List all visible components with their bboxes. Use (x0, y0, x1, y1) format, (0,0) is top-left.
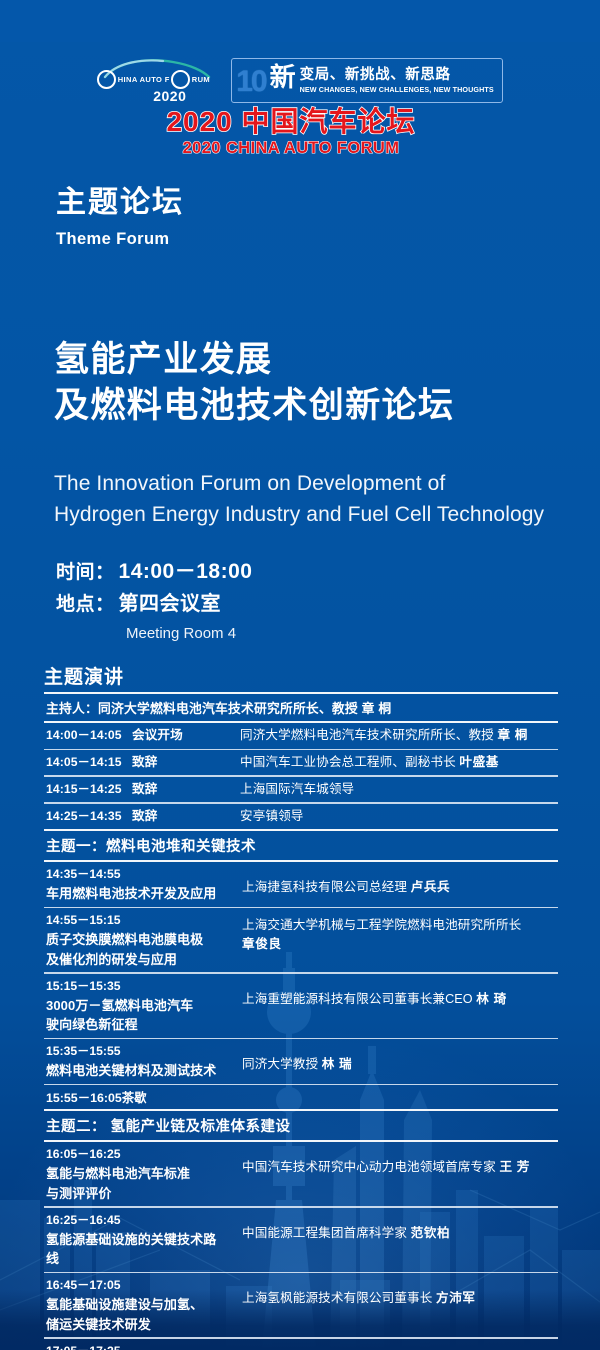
agenda-topic: 及催化剂的研发与应用 (46, 950, 242, 970)
agenda-speaker: 上海氢枫能源技术有限公司董事长 方沛军 (242, 1276, 558, 1308)
agenda-topic: 氢能源基础设施的关键技术路 (46, 1230, 242, 1250)
agenda-topic: 车用燃料电池技术开发及应用 (46, 884, 242, 904)
agenda-row-divider (44, 1140, 558, 1142)
theme-forum-label: 主题论坛 Theme Forum (56, 186, 184, 249)
agenda-section: 主题演讲 主持人：同济大学燃料电池汽车技术研究所所长、教授 章 桐 14:00－… (44, 662, 558, 1350)
theme-forum-cn: 主题论坛 (56, 186, 184, 221)
agenda-break-label: 15:55－16:05茶歇 (46, 1088, 242, 1106)
agenda-time-topic: 15:15－15:353000万－氢燃料电池汽车驶向绿色新征程 (46, 977, 242, 1035)
agenda-speaker-name: 方沛军 (436, 1291, 476, 1305)
agenda-speaker: 同济大学教授 林 瑞 (242, 1042, 558, 1074)
time-label: 时间： (56, 558, 115, 587)
logo-text-b: RUM (190, 70, 211, 89)
agenda-topic: 氢能基础设施建设与加氢、 (46, 1295, 242, 1315)
agenda-time-topic: 16:05－16:25氢能与燃料电池汽车标准与测评评价 (46, 1145, 242, 1203)
agenda-time: 14:05－14:15 (46, 753, 132, 772)
agenda-time: 14:00－14:05 (46, 726, 132, 745)
agenda-time: 14:35－14:55 (46, 865, 242, 884)
logo-letter-o-icon (171, 70, 190, 89)
forum-poster: HINA AUTO F RUM 2020 10 新 变局、新挑战、新思路 NEW… (0, 0, 600, 1350)
logo-text-a: HINA AUTO F (116, 70, 171, 89)
agenda-host-row: 主持人：同济大学燃料电池汽车技术研究所所长、教授 章 桐 (44, 694, 558, 721)
agenda-row: 14:25－14:35致辞安亭镇领导 (44, 804, 558, 829)
agenda-rows: 14:00－14:05会议开场同济大学燃料电池汽车技术研究所所长、教授 章 桐1… (44, 723, 558, 1350)
agenda-speaker-name: 章 桐 (497, 728, 528, 742)
agenda-break-row: 15:55－16:05茶歇 (44, 1085, 558, 1109)
forum-name-cn-line1: 氢能产业发展 (54, 337, 454, 383)
agenda-theme-band: 主题一：燃料电池堆和关键技术 (44, 831, 558, 860)
logo-letter-c-icon (97, 70, 116, 89)
agenda-topic: 会议开场 (132, 726, 240, 745)
agenda-rule-top (44, 692, 558, 694)
agenda-row-divider (44, 907, 558, 909)
agenda-topic: 氢能与燃料电池汽车标准 (46, 1164, 242, 1184)
event-meta: 时间： 14:00－18:00 地点： 第四会议室 Meeting Room 4 (56, 556, 252, 642)
forum-name-en-line1: The Innovation Forum on Development of (54, 468, 584, 499)
agenda-row-divider (44, 1084, 558, 1086)
agenda-speaker: 中国汽车技术研究中心动力电池领域首席专家 王 芳 (242, 1145, 558, 1177)
agenda-time-topic: 16:45－17:05氢能基础设施建设与加氢、储运关键技术研发 (46, 1276, 242, 1334)
agenda-row-divider (44, 860, 558, 862)
agenda-speaker-name: 章俊良 (242, 937, 282, 951)
venue-value: 第四会议室 (119, 589, 222, 620)
agenda-row: 15:15－15:353000万－氢燃料电池汽车驶向绿色新征程上海重塑能源科技有… (44, 974, 558, 1038)
agenda-speaker-name: 林 琦 (476, 992, 507, 1006)
xin-character: 新 (270, 65, 296, 91)
agenda-row: 16:45－17:05氢能基础设施建设与加氢、储运关键技术研发上海氢枫能源技术有… (44, 1273, 558, 1337)
agenda-speaker: 上海燃料电池汽车商业化促进中心副理事长 缪文泉 (242, 1342, 558, 1350)
agenda-speaker: 中国能源工程集团首席科学家 范钦柏 (242, 1211, 558, 1243)
agenda-speaker: 上海国际汽车城领导 (240, 780, 558, 799)
slogan-badge: 10 新 变局、新挑战、新思路 NEW CHANGES, NEW CHALLEN… (231, 58, 503, 103)
agenda-speaker-name: 叶盛基 (459, 755, 499, 769)
agenda-row-divider (44, 1109, 558, 1111)
time-value: 14:00－18:00 (119, 556, 253, 589)
agenda-row-divider (44, 802, 558, 804)
agenda-time: 16:25－16:45 (46, 1211, 242, 1230)
agenda-row-divider (44, 1206, 558, 1208)
agenda-time-topic: 14:35－14:55车用燃料电池技术开发及应用 (46, 865, 242, 903)
agenda-time: 14:55－15:15 (46, 911, 242, 930)
agenda-row: 14:35－14:55车用燃料电池技术开发及应用上海捷氢科技有限公司总经理 卢兵… (44, 862, 558, 906)
agenda-speaker-name: 林 瑞 (322, 1057, 353, 1071)
agenda-speaker-name: 王 芳 (499, 1160, 530, 1174)
agenda-rule-host (44, 721, 558, 723)
agenda-row: 16:05－16:25氢能与燃料电池汽车标准与测评评价中国汽车技术研究中心动力电… (44, 1142, 558, 1206)
agenda-time: 14:15－14:25 (46, 780, 132, 799)
agenda-time: 15:15－15:35 (46, 977, 242, 996)
agenda-row: 14:05－14:15致辞中国汽车工业协会总工程师、副秘书长 叶盛基 (44, 750, 558, 775)
agenda-topic: 质子交换膜燃料电池膜电极 (46, 930, 242, 950)
agenda-time-topic: 16:25－16:45氢能源基础设施的关键技术路线 (46, 1211, 242, 1269)
agenda-row: 15:35－15:55燃料电池关键材料及测试技术同济大学教授 林 瑞 (44, 1039, 558, 1083)
agenda-speaker: 中国汽车工业协会总工程师、副秘书长 叶盛基 (240, 753, 558, 772)
agenda-speaker-name: 卢兵兵 (411, 880, 451, 894)
agenda-speaker-name: 范钦柏 (411, 1226, 451, 1240)
forum-name-en-line2: Hydrogen Energy Industry and Fuel Cell T… (54, 499, 584, 530)
header-logos: HINA AUTO F RUM 2020 10 新 变局、新挑战、新思路 NEW… (0, 58, 600, 104)
agenda-topic: 驶向绿色新征程 (46, 1015, 242, 1035)
slogan-en: NEW CHANGES, NEW CHALLENGES, NEW THOUGHT… (300, 85, 494, 94)
agenda-row-divider (44, 1337, 558, 1339)
agenda-time: 17:05－17:25 (46, 1342, 242, 1350)
venue-label: 地点： (56, 590, 115, 619)
agenda-time-topic: 14:55－15:15质子交换膜燃料电池膜电极及催化剂的研发与应用 (46, 911, 242, 969)
agenda-row-divider (44, 1272, 558, 1274)
slogan-cn: 变局、新挑战、新思路 (300, 66, 494, 84)
agenda-title: 主题演讲 (44, 662, 558, 692)
agenda-speaker: 上海交通大学机械与工程学院燃料电池研究所所长章俊良 (242, 911, 558, 954)
china-auto-forum-logo: HINA AUTO F RUM 2020 (97, 58, 217, 104)
time-row: 时间： 14:00－18:00 (56, 556, 252, 589)
event-title: 2020 中国汽车论坛 2020 CHINA AUTO FORUM (0, 106, 600, 158)
agenda-time: 16:05－16:25 (46, 1145, 242, 1164)
venue-row: 地点： 第四会议室 (56, 589, 252, 620)
agenda-row-divider (44, 775, 558, 777)
agenda-row-divider (44, 1038, 558, 1040)
agenda-time: 16:45－17:05 (46, 1276, 242, 1295)
forum-name-en: The Innovation Forum on Development of H… (54, 468, 584, 530)
logo-year: 2020 (153, 88, 186, 104)
agenda-speaker: 同济大学燃料电池汽车技术研究所所长、教授 章 桐 (240, 726, 558, 745)
header-band (0, 0, 600, 42)
agenda-time: 15:35－15:55 (46, 1042, 242, 1061)
agenda-row: 16:25－16:45氢能源基础设施的关键技术路线中国能源工程集团首席科学家 范… (44, 1208, 558, 1272)
agenda-topic: 燃料电池关键材料及测试技术 (46, 1061, 242, 1081)
tenth-anniversary-icon: 10 (236, 67, 265, 97)
agenda-row: 14:55－15:15质子交换膜燃料电池膜电极及催化剂的研发与应用上海交通大学机… (44, 908, 558, 972)
venue-value-en: Meeting Room 4 (126, 625, 252, 642)
agenda-row: 17:05－17:25从核心材料到器件的燃料电池测评体系构建上海燃料电池汽车商业… (44, 1339, 558, 1350)
agenda-topic: 致辞 (132, 780, 240, 799)
agenda-speaker: 上海重塑能源科技有限公司董事长兼CEO 林 琦 (242, 977, 558, 1009)
agenda-time: 14:25－14:35 (46, 807, 132, 826)
agenda-theme-band: 主题二： 氢能产业链及标准体系建设 (44, 1111, 558, 1140)
event-title-en: 2020 CHINA AUTO FORUM (0, 139, 582, 158)
agenda-row: 14:15－14:25致辞上海国际汽车城领导 (44, 777, 558, 802)
agenda-time-topic: 17:05－17:25从核心材料到器件的燃料电池测评体系构建 (46, 1342, 242, 1350)
forum-name-cn-line2: 及燃料电池技术创新论坛 (54, 383, 454, 429)
agenda-topic: 线 (46, 1249, 242, 1269)
agenda-topic: 3000万－氢燃料电池汽车 (46, 996, 242, 1016)
agenda-topic: 与测评评价 (46, 1184, 242, 1204)
agenda-time-topic: 15:35－15:55燃料电池关键材料及测试技术 (46, 1042, 242, 1080)
agenda-row-divider (44, 972, 558, 974)
agenda-row: 14:00－14:05会议开场同济大学燃料电池汽车技术研究所所长、教授 章 桐 (44, 723, 558, 748)
agenda-speaker: 安亭镇领导 (240, 807, 558, 826)
event-title-cn: 2020 中国汽车论坛 (0, 106, 582, 138)
agenda-speaker: 上海捷氢科技有限公司总经理 卢兵兵 (242, 865, 558, 897)
agenda-row-divider (44, 749, 558, 751)
theme-forum-en: Theme Forum (56, 230, 184, 249)
agenda-topic: 致辞 (132, 753, 240, 772)
agenda-topic: 致辞 (132, 807, 240, 826)
agenda-row-divider (44, 829, 558, 831)
forum-name-cn: 氢能产业发展 及燃料电池技术创新论坛 (54, 337, 454, 428)
agenda-topic: 储运关键技术研发 (46, 1315, 242, 1335)
